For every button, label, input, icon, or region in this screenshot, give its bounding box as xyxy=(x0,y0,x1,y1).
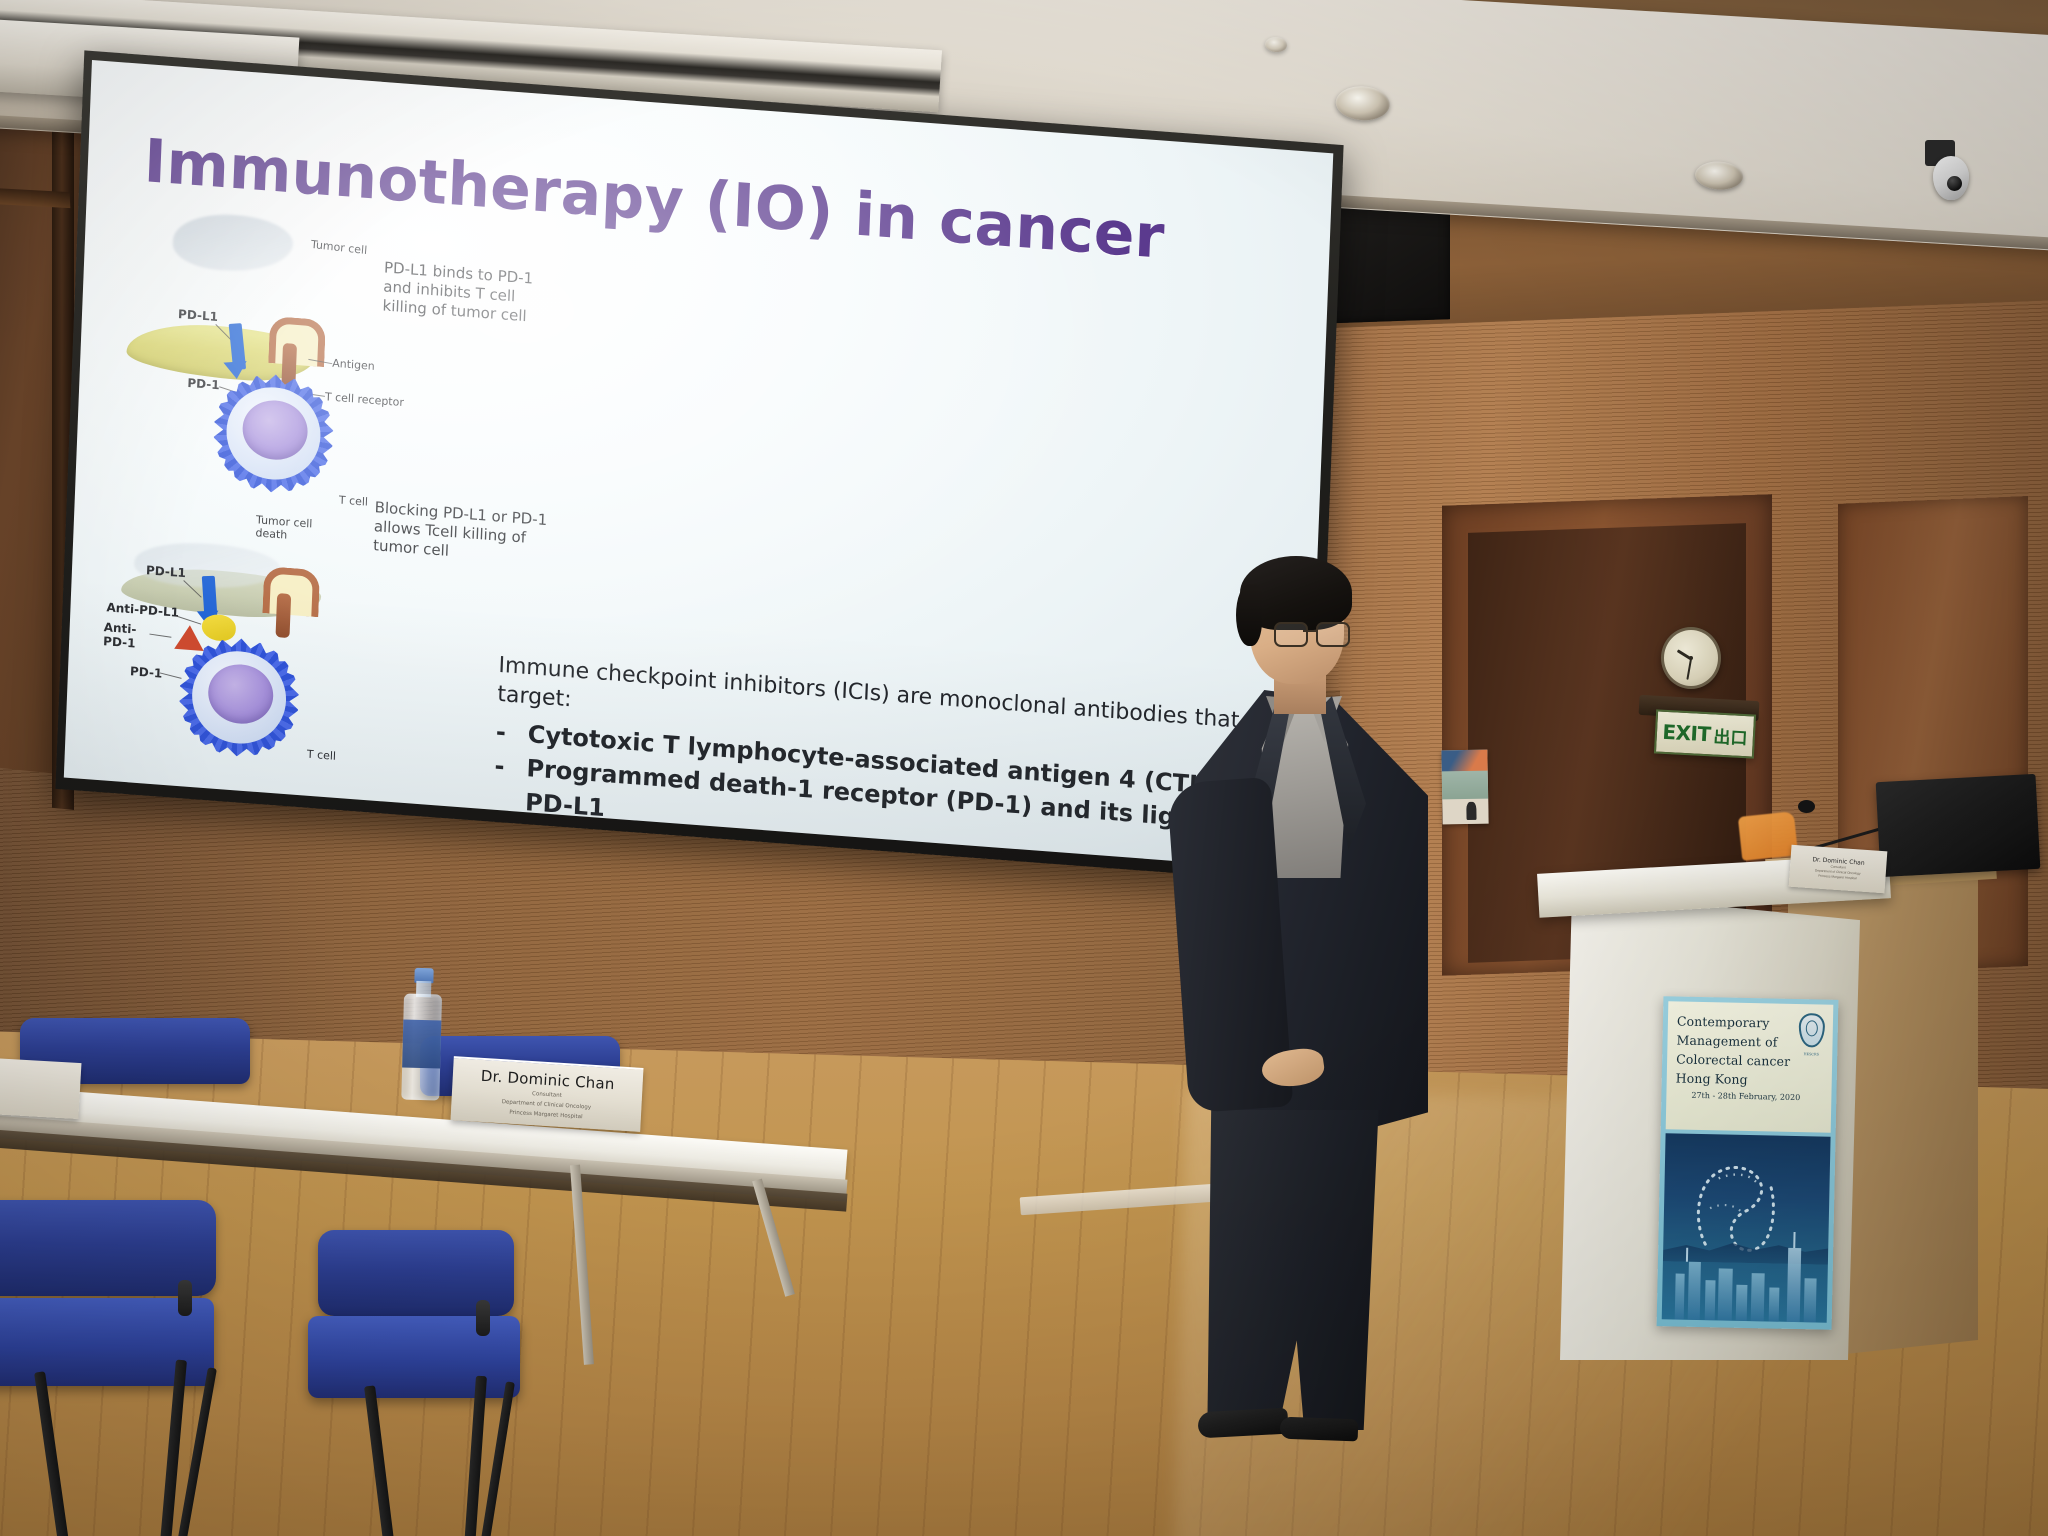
chair-front-left[interactable] xyxy=(0,1200,230,1530)
bottle-label xyxy=(402,1020,441,1069)
downlight-icon xyxy=(1265,36,1288,52)
nameplate-sub-1: Consultant xyxy=(532,1090,562,1100)
banner-text-block: HKSCRS Contemporary Management of Colore… xyxy=(1666,1001,1834,1132)
slide: Immunotherapy (IO) in cancer Tumor cell … xyxy=(64,60,1333,871)
security-camera-icon xyxy=(1925,140,1971,204)
banner-line-4: Hong Kong xyxy=(1676,1068,1823,1090)
label-tumor-cell: Tumor cell xyxy=(310,238,367,257)
label-anti-pd-1: Anti- PD-1 xyxy=(103,620,137,651)
water-bottle[interactable] xyxy=(401,968,442,1101)
speaker-shoe-right xyxy=(1280,1417,1359,1442)
podium: Dr. Dominic Chan Consultant Department o… xyxy=(1560,800,1980,1360)
exit-sign-english: EXIT xyxy=(1662,720,1711,746)
photo-scene: EXIT 出口 Immunotherapy (IO) in cancer Tum… xyxy=(0,0,2048,1536)
t-cell-receptor-lower xyxy=(262,566,307,639)
chair-front-right[interactable] xyxy=(288,1230,518,1536)
bullet-dash: - xyxy=(493,749,506,818)
t-cell-illustration-lower xyxy=(177,634,301,761)
exit-sign-chinese: 出口 xyxy=(1713,722,1748,749)
speaker-shoe-left xyxy=(1197,1408,1288,1439)
wall-clock-icon xyxy=(1661,627,1721,689)
conference-banner: HKSCRS Contemporary Management of Colore… xyxy=(1657,996,1839,1330)
logo-caption: HKSCRS xyxy=(1800,1052,1822,1057)
banner-date: 27th - 28th February, 2020 xyxy=(1691,1091,1822,1103)
label-t-cell-bottom: T cell xyxy=(307,748,337,763)
podium-nameplate: Dr. Dominic Chan Consultant Department o… xyxy=(1789,845,1888,894)
speaker-person xyxy=(1170,550,1530,1420)
label-tumor-cell-death: Tumor cell death xyxy=(255,513,312,543)
annotation-top: PD-L1 binds to PD-1 and inhibits T cell … xyxy=(382,258,533,325)
screen-surface: Immunotherapy (IO) in cancer Tumor cell … xyxy=(64,60,1333,871)
glasses-icon xyxy=(1274,622,1350,644)
speaker-trousers xyxy=(1200,1110,1386,1430)
table-nameplate-left xyxy=(0,1057,81,1119)
nameplate-name: Dr. Dominic Chan xyxy=(480,1066,615,1092)
confidence-monitor xyxy=(1876,774,2041,877)
society-logo-icon: HKSCRS xyxy=(1798,1013,1825,1048)
tumor-cell-illustration xyxy=(172,210,294,275)
t-cell-illustration xyxy=(211,370,335,497)
label-antigen: Antigen xyxy=(332,357,375,373)
label-pd-l1-bottom: PD-L1 xyxy=(146,563,186,580)
label-t-cell-top: T cell xyxy=(339,493,369,508)
downlight-icon xyxy=(1694,160,1744,191)
exit-sign: EXIT 出口 xyxy=(1654,709,1756,758)
laptop-screen-glow xyxy=(1738,811,1798,861)
downlight-icon xyxy=(1335,85,1391,122)
label-t-cell-receptor: T cell receptor xyxy=(325,390,404,409)
projection-screen: Immunotherapy (IO) in cancer Tumor cell … xyxy=(64,60,1333,871)
leader-line xyxy=(149,634,171,638)
banner-artwork xyxy=(1662,1133,1831,1322)
speaker-hair-side xyxy=(1236,584,1262,646)
table-nameplate: Dr. Dominic Chan Consultant Department o… xyxy=(451,1056,644,1132)
bullet-dash: - xyxy=(495,715,506,750)
label-pd-l1-top: PD-L1 xyxy=(178,307,218,324)
hong-kong-skyline xyxy=(1662,1237,1829,1322)
leader-line xyxy=(160,672,182,678)
label-pd-1-bottom: PD-1 xyxy=(130,664,163,680)
